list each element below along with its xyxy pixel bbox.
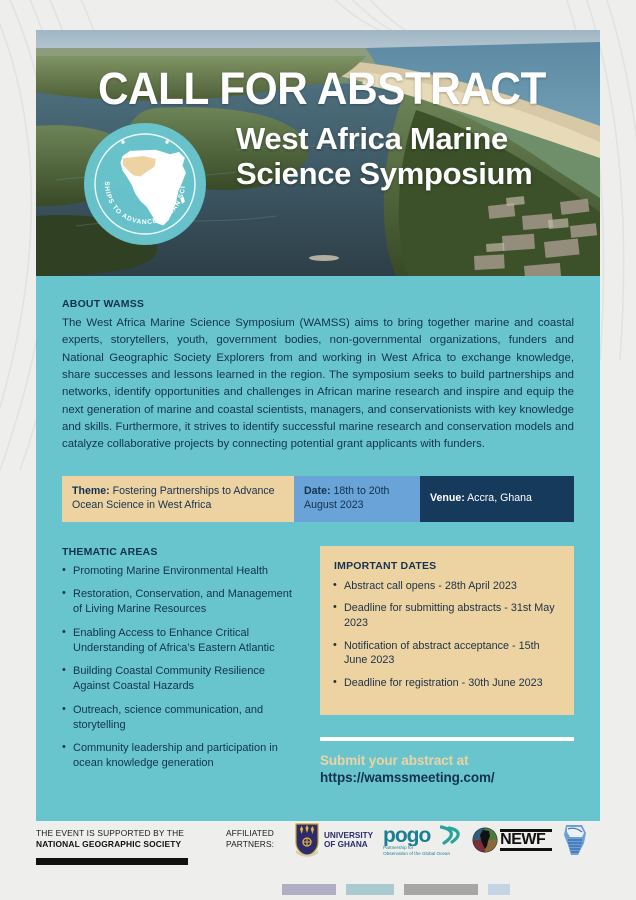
list-item: Deadline for registration - 30th June 20… [332,676,560,691]
pogo-wordmark-icon: pogo [383,824,439,846]
uog-line2: OF GHANA [324,840,373,849]
thematic-heading: THEMATIC AREAS [62,546,302,558]
uog-line1: UNIVERSITY [324,831,373,840]
content-card: ABOUT WAMSS The West Africa Marine Scien… [36,276,600,821]
info-theme: Theme: Fostering Partnerships to Advance… [62,476,294,522]
dates-heading: IMPORTANT DATES [334,560,560,572]
supported-line2: NATIONAL GEOGRAPHIC SOCIETY [36,839,226,849]
newf-logo: NEWF [472,827,552,853]
important-dates-list: Abstract call opens - 28th April 2023 De… [332,579,560,691]
hero-banner: WAMSS FOSTERING PARTNERSHIPS TO ADVANCE … [36,30,600,276]
footer: THE EVENT IS SUPPORTED BY THE NATIONAL G… [36,822,616,865]
list-item: Enabling Access to Enhance Critical Unde… [62,626,302,655]
list-item: Restoration, Conservation, and Managemen… [62,587,302,616]
hero-title: CALL FOR ABSTRACT [98,68,546,111]
university-of-ghana-logo: UNIVERSITY OF GHANA [294,822,373,858]
list-item: Community leadership and participation i… [62,741,302,770]
newf-globe-icon [472,827,498,853]
pogo-wave-icon [440,825,462,845]
hero-subtitle-line2: Science Symposium [236,157,532,192]
affiliated-line1: AFFILIATED [226,828,288,839]
affiliated-line2: PARTNERS: [226,839,288,850]
about-text: The West Africa Marine Science Symposium… [62,315,574,454]
divider [320,737,574,741]
submit-url-link[interactable]: https://wamssmeeting.com/ [320,770,574,785]
ghana-shield-icon [294,822,320,858]
list-item: Notification of abstract acceptance - 15… [332,639,560,668]
info-venue-label: Venue: [430,492,465,504]
pogo-tagline-line2: Observation of the Global Ocean [383,851,462,857]
affiliated-partners-label: AFFILIATED PARTNERS: [226,822,288,851]
ghana-map-logo [562,823,588,857]
supported-line1: THE EVENT IS SUPPORTED BY THE [36,828,226,838]
event-info-strip: Theme: Fostering Partnerships to Advance… [62,476,574,522]
list-item: Abstract call opens - 28th April 2023 [332,579,560,594]
pogo-logo: pogo Partnership for Observation of the … [383,824,462,856]
about-heading: ABOUT WAMSS [62,298,574,310]
wamss-logo: WAMSS FOSTERING PARTNERSHIPS TO ADVANCE … [83,122,207,246]
info-theme-label: Theme: [72,485,110,497]
list-item: Building Coastal Community Resilience Ag… [62,664,302,693]
submit-label: Submit your abstract at [320,753,574,768]
svg-text:pogo: pogo [383,824,430,846]
thematic-areas-column: THEMATIC AREAS Promoting Marine Environm… [62,546,302,785]
national-geographic-logo [36,858,188,865]
thematic-areas-list: Promoting Marine Environmental Health Re… [62,564,302,771]
hero-subtitle: West Africa Marine Science Symposium [236,122,532,191]
partner-logos: UNIVERSITY OF GHANA pogo Partnership for… [288,822,616,858]
supported-by-block: THE EVENT IS SUPPORTED BY THE NATIONAL G… [36,822,226,865]
info-date: Date: 18th to 20th August 2023 [294,476,420,522]
info-venue: Venue: Accra, Ghana [420,476,574,522]
important-dates-box: IMPORTANT DATES Abstract call opens - 28… [320,546,574,715]
flyer-page: WAMSS FOSTERING PARTNERSHIPS TO ADVANCE … [36,30,600,821]
page-bleed-artifact [36,884,616,900]
list-item: Promoting Marine Environmental Health [62,564,302,579]
list-item: Deadline for submitting abstracts - 31st… [332,601,560,630]
info-venue-value: Accra, Ghana [467,492,532,504]
info-date-label: Date: [304,485,331,497]
hero-subtitle-line1: West Africa Marine [236,122,532,157]
dates-column: IMPORTANT DATES Abstract call opens - 28… [320,546,574,785]
list-item: Outreach, science communication, and sto… [62,703,302,732]
content-columns: THEMATIC AREAS Promoting Marine Environm… [62,546,574,785]
newf-wordmark: NEWF [500,832,552,849]
